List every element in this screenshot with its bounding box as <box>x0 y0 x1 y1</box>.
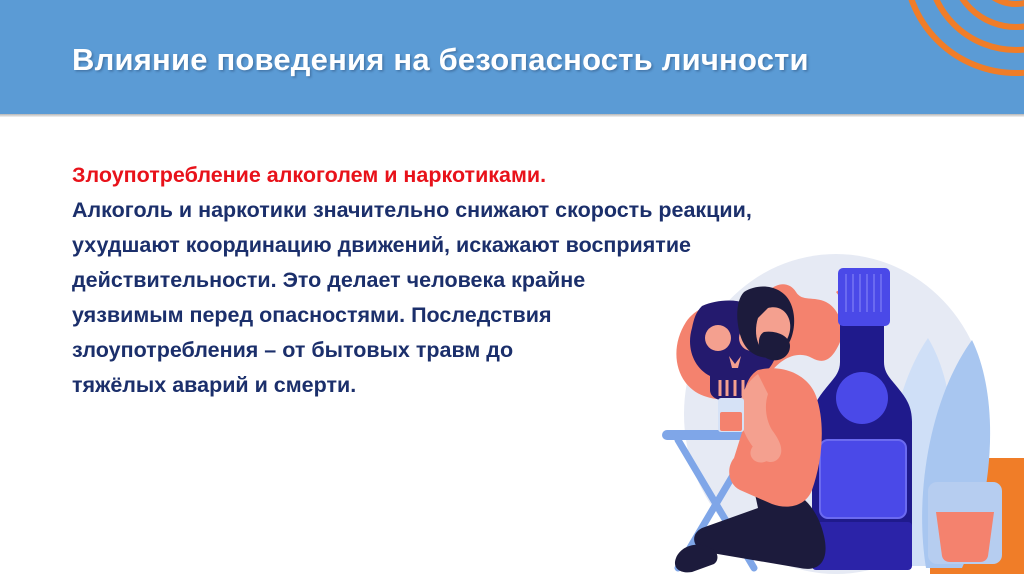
body-line-4: уязвимым перед опасностями. Последствия <box>72 298 732 333</box>
page-title: Влияние поведения на безопасность личнос… <box>72 42 952 78</box>
body-line-5: злоупотребления – от бытовых травм до <box>72 333 732 368</box>
bottle-medallion <box>836 372 888 424</box>
body-line-lead: Злоупотребление алкоголем и наркотиками. <box>72 158 732 193</box>
body-line-2: ухудшают координацию движений, искажают … <box>72 228 732 263</box>
slide-canvas: Влияние поведения на безопасность личнос… <box>0 0 1024 574</box>
man-shoe <box>675 545 718 573</box>
body-line-1: Алкоголь и наркотики значительно снижают… <box>72 193 732 228</box>
table-glass-liquid <box>720 412 742 431</box>
glass-liquid <box>936 512 994 562</box>
alcohol-abuse-illustration <box>640 246 1024 574</box>
skull-eye-left <box>705 325 731 351</box>
bottle-label <box>820 440 906 518</box>
slide-body-text: Злоупотребление алкоголем и наркотиками.… <box>72 158 732 403</box>
slide-header-band: Влияние поведения на безопасность личнос… <box>0 0 1024 114</box>
body-line-3: действительности. Это делает человека кр… <box>72 263 732 298</box>
header-divider-shadow <box>0 114 1024 117</box>
bottle-base-block <box>812 522 912 570</box>
body-line-6: тяжёлых аварий и смерти. <box>72 368 732 403</box>
